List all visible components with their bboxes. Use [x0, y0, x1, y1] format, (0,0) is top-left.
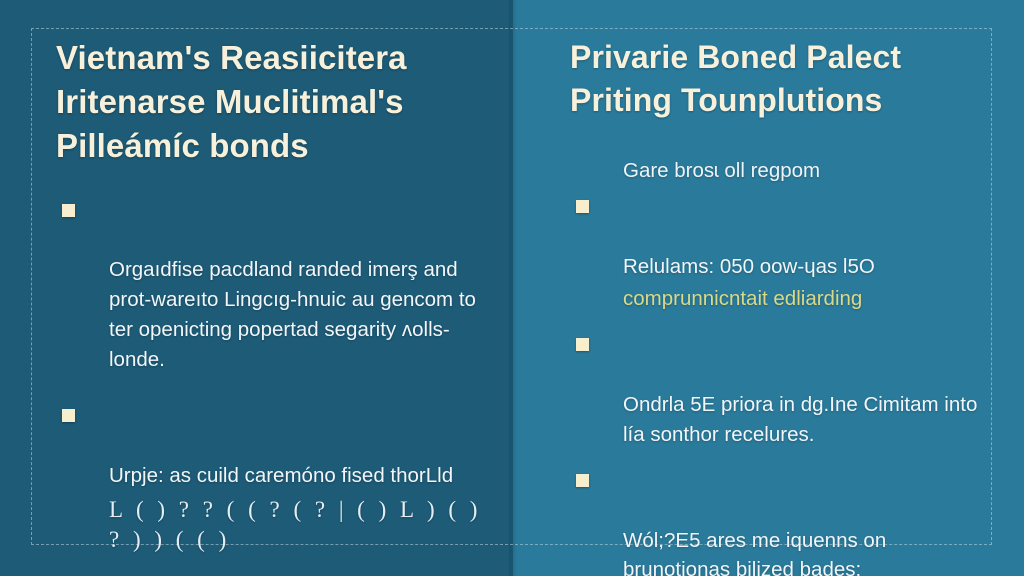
left-column: Vietnam's Reasiicitera Iritenarse Muclit… [56, 36, 496, 576]
list-item-text: Orgaıdfise pacdland randed imerş and pro… [109, 258, 476, 371]
presentation-slide: Vietnam's Reasiicitera Iritenarse Muclit… [0, 0, 1024, 576]
list-item-text: Wól;?E5 ares me iquenns on brunotionas b… [623, 529, 886, 576]
list-item-text: Urpje: as cuild caremóno fised thorLld [109, 464, 453, 487]
list-item: Orgaıdfise pacdland randed imerş and pro… [56, 196, 496, 376]
highlighted-line: comprunnicntait edliarding [570, 284, 990, 314]
garbled-glyph-run: L ( ) ? ? ( ( ? ( ? | ( ) L ) ( ) ? ) ) … [56, 495, 496, 555]
list-item: Relulams: 050 oow-ɥas l5O [570, 192, 990, 282]
bullet-square-icon [576, 474, 589, 487]
list-item: Wól;?E5 ares me iquenns on brunotionas b… [570, 466, 990, 576]
left-bullet-list: Orgaıdfise pacdland randed imerş and pro… [56, 196, 496, 576]
list-item: Ondrla 5E priora in dg.Ine Cimitam into … [570, 330, 990, 450]
list-item-text: Relulams: 050 oow-ɥas l5O [623, 255, 875, 278]
bullet-square-icon [62, 409, 75, 422]
list-item-text: Ondrla 5E priora in dg.Ine Cimitam into … [623, 393, 977, 446]
right-column-title: Privarie Boned Palect Priting Tounplutio… [570, 36, 990, 122]
bullet-square-icon [62, 204, 75, 217]
right-column-lead-line: Gare brosɩ oll regpom [570, 156, 990, 186]
left-column-title: Vietnam's Reasiicitera Iritenarse Muclit… [56, 36, 496, 168]
right-column: Privarie Boned Palect Priting Tounplutio… [570, 36, 990, 576]
bullet-square-icon [576, 338, 589, 351]
right-bullet-list: Relulams: 050 oow-ɥas l5O comprunnicntai… [570, 192, 990, 576]
bullet-square-icon [576, 200, 589, 213]
list-item: Urpje: as cuild caremóno fised thorLld [56, 401, 496, 491]
